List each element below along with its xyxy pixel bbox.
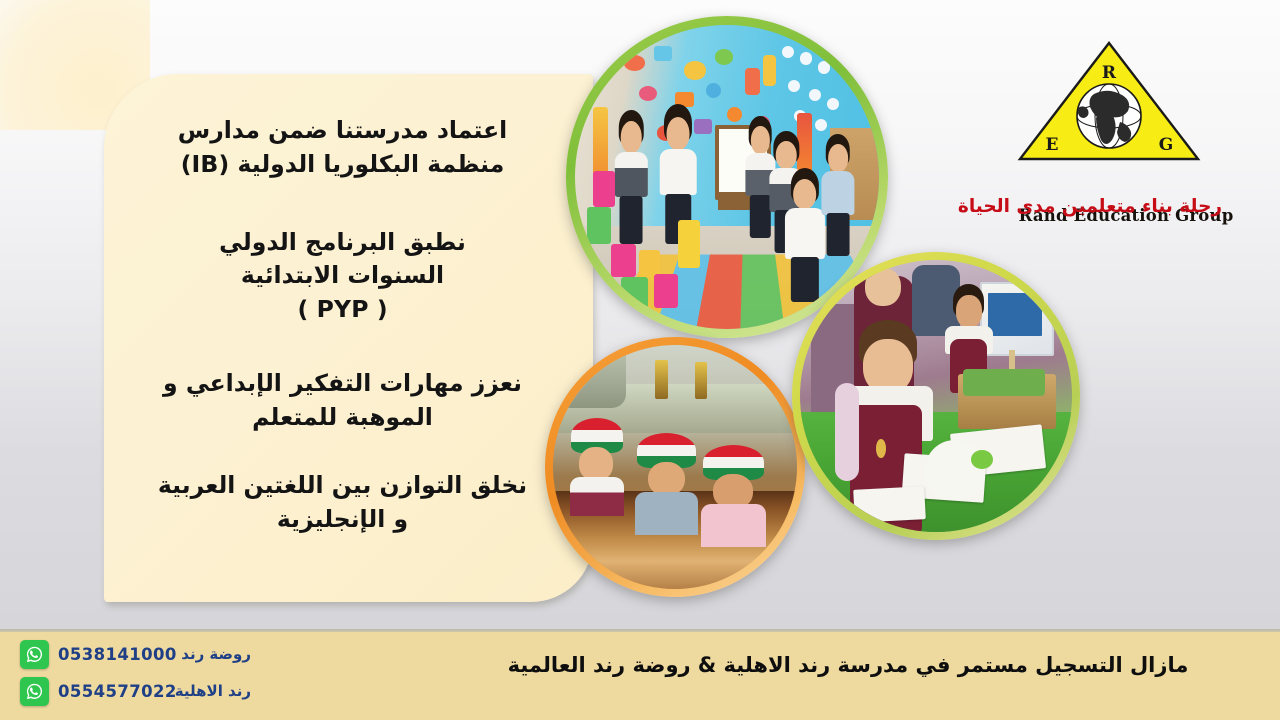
logo-triangle-globe-icon: R E G [1016, 38, 1202, 164]
contact-row-kindergarten[interactable]: 0538141000 روضة رند [20, 639, 251, 669]
contact-row-school[interactable]: 0554577022 رند الاهلية [20, 676, 251, 706]
card-line-pyp-programme: نطبق البرنامج الدولي السنوات الابتدائية … [138, 226, 547, 327]
students-science-project-photo [792, 252, 1080, 540]
information-card-content: اعتماد مدرستنا ضمن مدارس منظمة البكلوريا… [104, 74, 593, 602]
card-line-bilingual-balance: نخلق التوازن بين اللغتين العربية و الإنج… [138, 469, 547, 537]
logo-letter-g: G [1159, 135, 1174, 155]
children-chef-hats-photo [545, 337, 805, 597]
contact-number-school[interactable]: 0554577022 [58, 682, 156, 701]
information-card: اعتماد مدرستنا ضمن مدارس منظمة البكلوريا… [104, 74, 593, 602]
contact-label-school: رند الاهلية [165, 682, 251, 700]
card-line-creative-thinking: نعزز مهارات التفكير الإبداعي و الموهبة ل… [138, 367, 547, 435]
poster-canvas: اعتماد مدرستنا ضمن مدارس منظمة البكلوريا… [0, 0, 1280, 720]
whatsapp-icon[interactable] [20, 640, 49, 669]
whatsapp-icon[interactable] [20, 677, 49, 706]
logo-letter-r: R [1102, 63, 1117, 83]
contact-list: 0538141000 روضة رند 0554577022 رند الاهل… [10, 634, 272, 718]
logo-letter-e: E [1046, 135, 1059, 155]
rand-education-group-logo: R E G Rand Education Group [1016, 38, 1202, 190]
contact-label-kindergarten: روضة رند [165, 645, 251, 663]
globe-icon [1077, 84, 1141, 148]
card-line-ib-accreditation: اعتماد مدرستنا ضمن مدارس منظمة البكلوريا… [138, 114, 547, 182]
logo-tagline: رحلة بناء متعلمين مدى الحياة [930, 196, 1250, 217]
registration-banner-text: مازال التسجيل مستمر في مدرسة رند الاهلية… [440, 653, 1256, 677]
contact-number-kindergarten[interactable]: 0538141000 [58, 645, 156, 664]
